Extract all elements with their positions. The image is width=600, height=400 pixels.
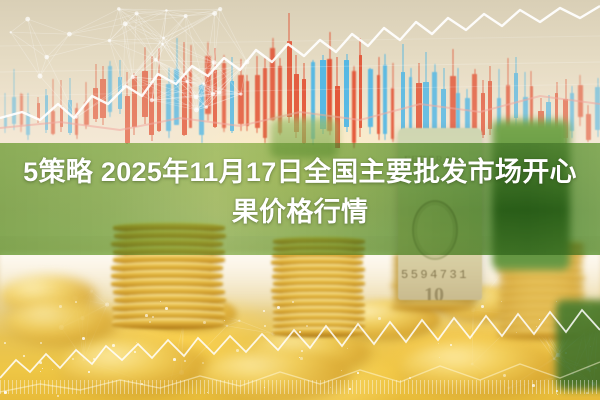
page-title: 5策略 2025年11月17日全国主要批发市场开心 果价格行情 [0,152,600,232]
title-line-1: 5策略 2025年11月17日全国主要批发市场开心 [23,157,577,187]
bottom-tick-row [0,380,600,394]
banknote-serial-number: 5594731 [401,268,469,282]
banknote-denomination: 10 [424,284,444,300]
cover-image: FEDERAL 5594731 10 5策略 2025年11月17日全国主要批发… [0,0,600,400]
title-line-2: 果价格行情 [0,192,600,232]
